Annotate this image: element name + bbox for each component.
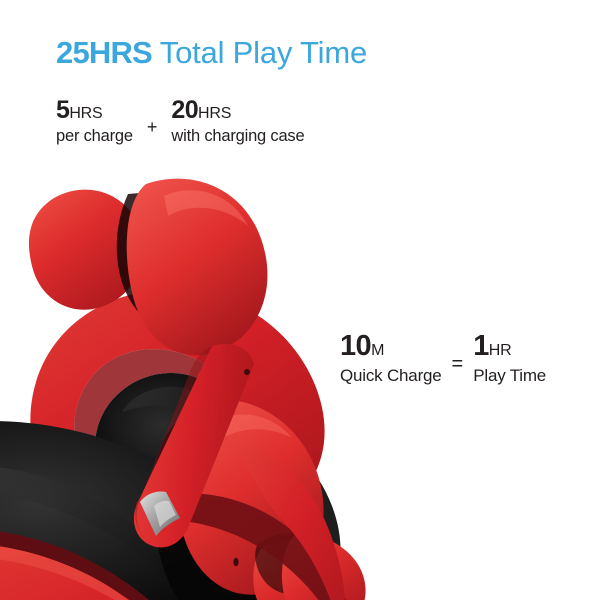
equals-operator-icon: = — [452, 354, 464, 374]
earbud-stem-shade — [135, 346, 212, 540]
spec-quick-charge-caption: Quick Charge — [340, 366, 442, 386]
spec-quick-charge-number: 10 — [340, 330, 371, 362]
case-body — [0, 421, 300, 600]
earbud-upper-seam — [117, 192, 154, 316]
spec-play-time-value: 1HR — [473, 332, 546, 365]
case-lid — [30, 290, 324, 505]
case-lid-outer — [30, 290, 324, 502]
product-infographic-canvas: 25HRS Total Play Time 5HRS per charge + … — [0, 0, 600, 600]
earbud-lower — [153, 399, 366, 600]
earbud-lower-head — [175, 399, 324, 594]
headline-rest: Total Play Time — [152, 35, 367, 70]
case-lid-right-face — [240, 448, 346, 600]
spec-quick-charge: 10M Quick Charge — [340, 332, 442, 386]
spec-play-time: 1HR Play Time — [473, 332, 546, 386]
case-interior-gloss-1 — [0, 465, 188, 600]
earbud-lower-shadow — [153, 416, 341, 600]
charging-contact-shine — [154, 501, 176, 527]
spec-with-case-unit: HRS — [198, 105, 231, 122]
case-interior-well — [0, 421, 300, 600]
case-front-wall-shadow — [136, 493, 365, 600]
case-body-edge-highlight — [0, 543, 186, 600]
spec-with-case-caption: with charging case — [171, 127, 304, 146]
spec-per-charge-caption: per charge — [56, 127, 133, 146]
spec-play-time-unit: HR — [489, 342, 512, 359]
spec-with-case: 20HRS with charging case — [171, 98, 304, 146]
spec-quick-charge-unit: M — [371, 342, 384, 359]
spec-with-case-number: 20 — [171, 96, 198, 124]
spec-with-case-value: 20HRS — [171, 98, 304, 126]
earbud-lower-highlight — [212, 415, 292, 440]
case-body-face — [0, 543, 222, 600]
case-lid-cavity — [95, 373, 244, 505]
spec-per-charge-unit: HRS — [69, 105, 102, 122]
case-lid-cavity-gloss — [122, 387, 224, 442]
spec-per-charge: 5HRS per charge — [56, 98, 133, 146]
earbud-stem — [134, 344, 254, 547]
earbud-lower-tip — [282, 534, 366, 600]
spec-quick-charge-value: 10M — [340, 332, 442, 365]
case-lid-rim-shadow — [74, 349, 244, 488]
mic-hole-icon — [233, 558, 238, 566]
case-lid-right-edge — [240, 448, 346, 600]
earbud-lower-neck — [253, 540, 353, 600]
case-front-wall — [136, 493, 365, 600]
charging-contact-icon — [140, 491, 180, 536]
quick-charge-row: 10M Quick Charge = 1HR Play Time — [340, 332, 546, 386]
case-interior-gloss-2 — [0, 524, 122, 600]
earbud-lower-seam — [255, 533, 296, 594]
earbud-upper-tip — [29, 190, 143, 310]
battery-spec-row: 5HRS per charge + 20HRS with charging ca… — [56, 98, 304, 146]
earbud-upper-highlight — [164, 190, 248, 226]
page-title: 25HRS Total Play Time — [56, 36, 367, 70]
spec-play-time-caption: Play Time — [473, 366, 546, 386]
spec-play-time-number: 1 — [473, 330, 489, 362]
spec-per-charge-number: 5 — [56, 96, 69, 124]
stem-mic-hole-icon — [244, 369, 250, 375]
headline-highlight: 25HRS — [56, 35, 152, 70]
plus-operator-icon: + — [147, 118, 158, 136]
earbud-upper — [29, 179, 268, 548]
earbud-upper-head — [127, 179, 268, 356]
case-body-inner-lip — [0, 528, 222, 600]
spec-per-charge-value: 5HRS — [56, 98, 133, 126]
